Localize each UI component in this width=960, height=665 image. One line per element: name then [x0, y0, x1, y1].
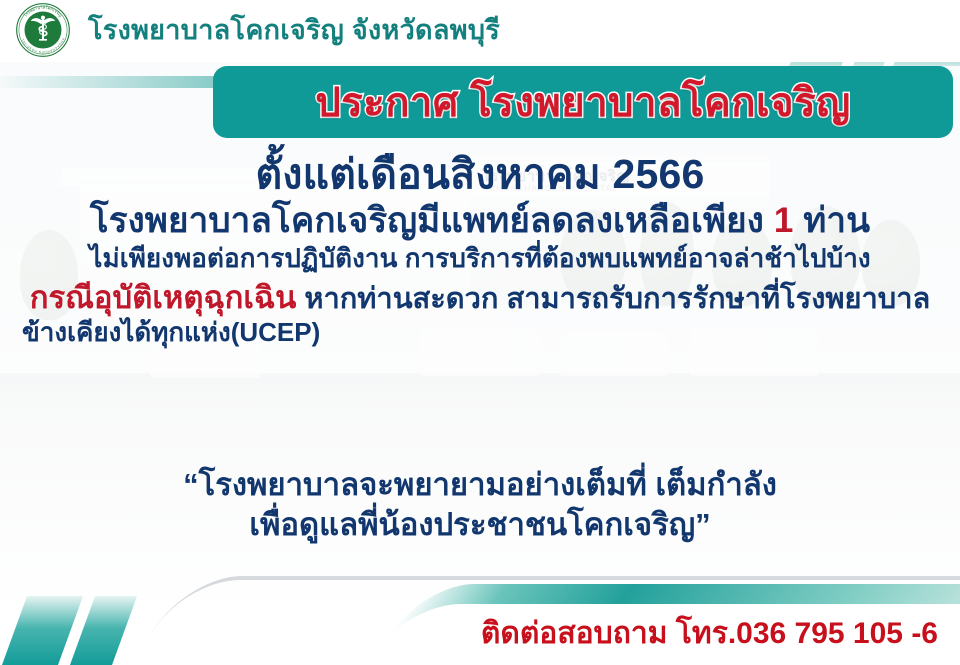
hospital-caduceus-emblem-icon: โรงพยาบาลโคกเจริญ KHOKCHAROEN HOSPITAL — [6, 2, 80, 58]
announcement-line-5: ข้างเคียงได้ทุกแห่ง(UCEP) — [0, 317, 960, 348]
announcement-line-2-prefix: โรงพยาบาลโคกเจริญมีแพทย์ลดลงเหลือเพียง — [90, 201, 774, 240]
doctor-count-highlight: 1 — [774, 201, 794, 240]
announcement-line-4: กรณีอุบัติเหตุฉุกเฉิน หากท่านสะดวก สามาร… — [0, 280, 960, 317]
announcement-poster: โรงพยาบาลโคกเจริญ KHOKCHAROEN HOSPITAL — [0, 0, 960, 665]
emergency-case-highlight: กรณีอุบัติเหตุฉุกเฉิน — [30, 280, 297, 315]
closing-quote: “โรงพยาบาลจะพยายามอย่างเต็มที่ เต็มกำลัง… — [0, 465, 960, 546]
announcement-title: ประกาศ โรงพยาบาลโคกเจริญ — [315, 70, 850, 134]
announcement-line-2-suffix: ท่าน — [793, 201, 870, 240]
announcement-line-1: ตั้งแต่เดือนสิงหาคม 2566 — [0, 150, 960, 198]
quote-line-2: เพื่อดูแลพี่น้องประชาชนโคกเจริญ” — [0, 505, 960, 545]
contact-phone-text: ติดต่อสอบถาม โทร.036 795 105 -6 — [481, 610, 938, 657]
quote-line-1: “โรงพยาบาลจะพยายามอย่างเต็มที่ เต็มกำลัง — [0, 465, 960, 505]
header-hospital-name: โรงพยาบาลโคกเจริญ จังหวัดลพบุรี — [88, 8, 500, 51]
announcement-line-2: โรงพยาบาลโคกเจริญมีแพทย์ลดลงเหลือเพียง 1… — [0, 200, 960, 241]
announcement-title-banner: ประกาศ โรงพยาบาลโคกเจริญ — [213, 66, 953, 138]
announcement-line-4-rest: หากท่านสะดวก สามารถรับการรักษาที่โรงพยาบ… — [296, 283, 930, 315]
announcement-line-3: ไม่เพียงพอต่อการปฏิบัติงาน การบริการที่ต… — [0, 243, 960, 274]
announcement-body: ตั้งแต่เดือนสิงหาคม 2566 โรงพยาบาลโคกเจร… — [0, 150, 960, 348]
poster-header: โรงพยาบาลโคกเจริญ KHOKCHAROEN HOSPITAL โ… — [0, 0, 960, 62]
